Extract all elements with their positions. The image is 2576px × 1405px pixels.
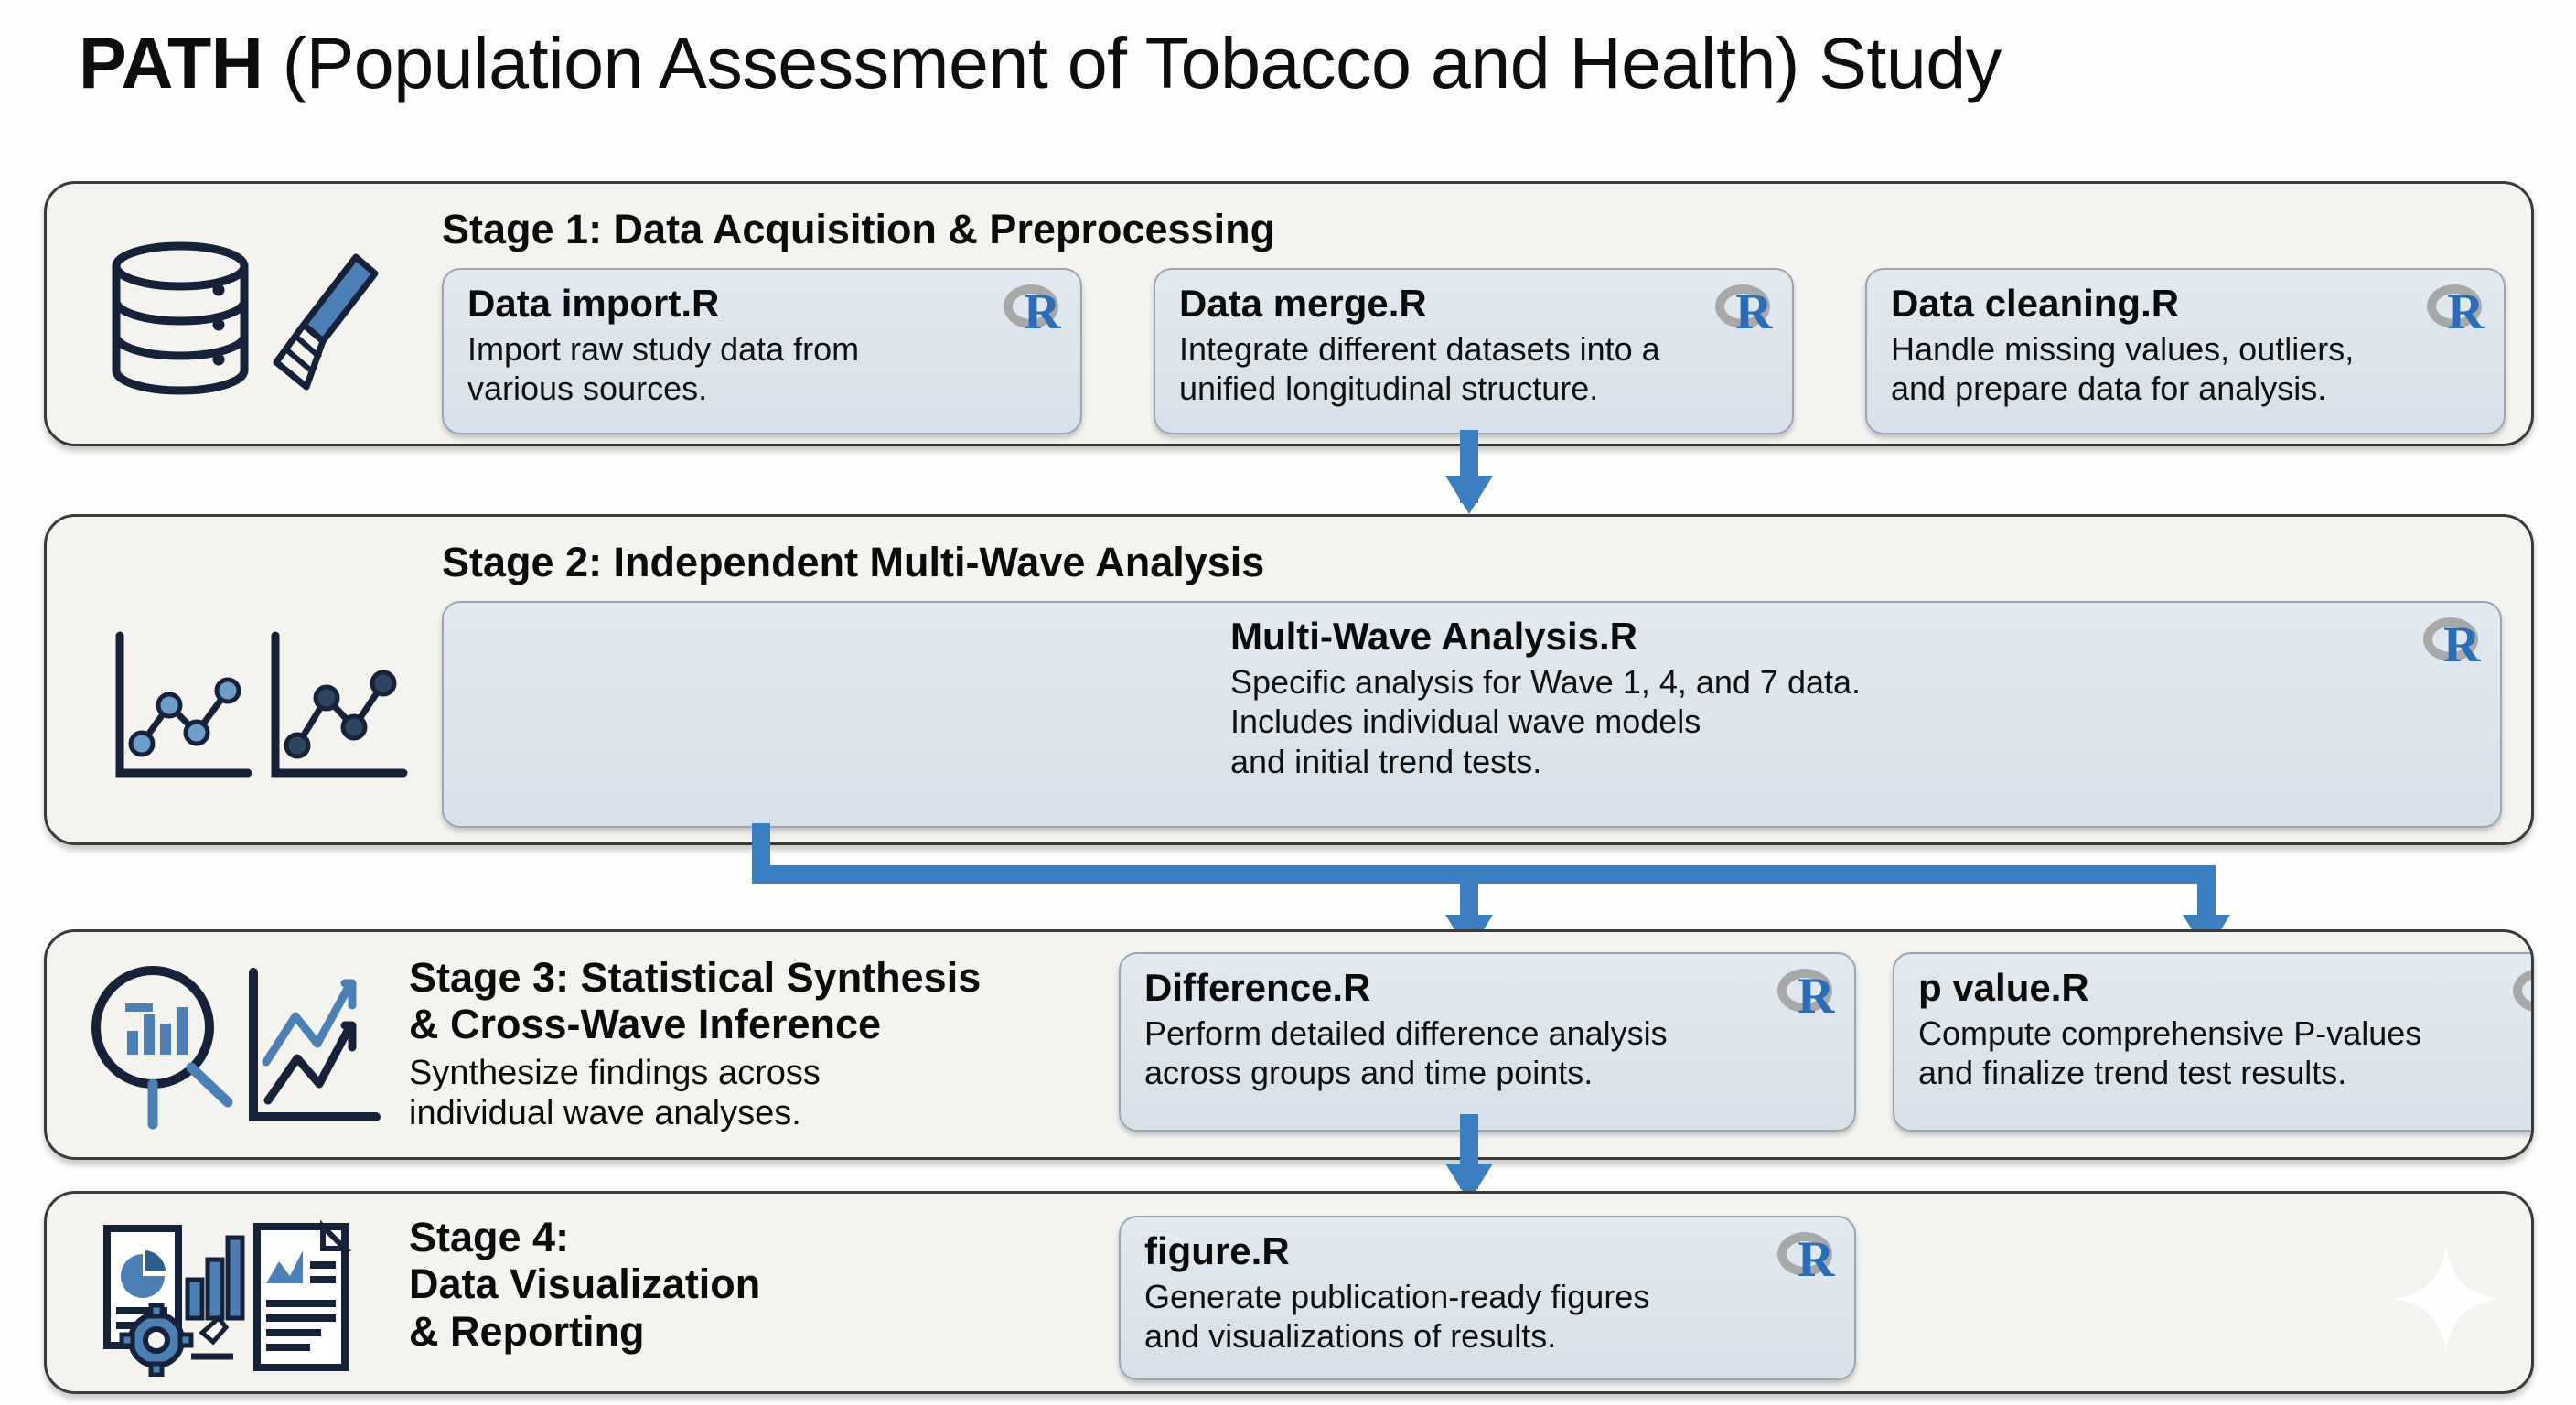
r-logo-icon: R (1777, 969, 1838, 1022)
card-title: p value.R (1918, 967, 2534, 1009)
page-title-rest: (Population Assessment of Tobacco and He… (263, 22, 2001, 103)
sparkle-watermark-icon (2392, 1245, 2500, 1353)
card-title: Data cleaning.R (1891, 283, 2480, 325)
diagram-canvas: PATH (Population Assessment of Tobacco a… (0, 0, 2576, 1405)
stage-4-heading: Stage 4: Data Visualization & Reporting (409, 1214, 760, 1355)
r-logo-icon: R (2513, 969, 2534, 1022)
card-data-cleaning[interactable]: Data cleaning.R Handle missing values, o… (1865, 268, 2506, 434)
card-description: Integrate different datasets into a unif… (1179, 329, 1768, 408)
card-title: Data merge.R (1179, 283, 1768, 325)
card-title: Difference.R (1144, 967, 1830, 1009)
report-charts-gear-icon (100, 1219, 365, 1377)
page-title: PATH (Population Assessment of Tobacco a… (79, 26, 2002, 102)
stage-2-heading: Stage 2: Independent Multi-Wave Analysis (442, 539, 1264, 585)
r-logo-icon: R (2423, 617, 2484, 670)
card-title: Data import.R (467, 283, 1057, 325)
card-description: Handle missing values, outliers, and pre… (1891, 329, 2480, 408)
card-multi-wave-analysis[interactable]: Multi-Wave Analysis.R Specific analysis … (442, 601, 2502, 828)
r-logo-icon: R (1004, 284, 1064, 338)
stage-3-heading: Stage 3: Statistical Synthesis & Cross-W… (409, 954, 981, 1048)
stage-3-subtitle: Synthesize findings across individual wa… (409, 1053, 821, 1133)
card-description: Specific analysis for Wave 1, 4, and 7 d… (1230, 662, 2476, 781)
stage-3-container: Stage 3: Statistical Synthesis & Cross-W… (44, 929, 2534, 1160)
r-logo-letter: R (1798, 1234, 1834, 1285)
card-p-value[interactable]: p value.R Compute comprehensive P-values… (1893, 952, 2534, 1132)
stage-1-container: Stage 1: Data Acquisition & Preprocessin… (44, 181, 2534, 446)
r-logo-icon: R (1715, 284, 1776, 338)
card-description: Compute comprehensive P-values and final… (1918, 1014, 2534, 1092)
card-title: figure.R (1144, 1230, 1830, 1272)
r-logo-icon: R (2427, 284, 2487, 338)
card-description: Perform detailed difference analysis acr… (1144, 1014, 1830, 1092)
stage-1-heading: Stage 1: Data Acquisition & Preprocessin… (442, 206, 1275, 252)
r-logo-letter: R (1024, 286, 1060, 338)
stage-2-container: Stage 2: Independent Multi-Wave Analysis… (44, 514, 2534, 845)
dual-line-chart-icon (109, 627, 411, 791)
r-logo-icon: R (1777, 1232, 1838, 1285)
magnifier-trend-icon (74, 963, 394, 1132)
stage-4-container: Stage 4: Data Visualization & Reporting … (44, 1191, 2534, 1394)
card-data-merge[interactable]: Data merge.R Integrate different dataset… (1154, 268, 1794, 434)
card-data-import[interactable]: Data import.R Import raw study data from… (442, 268, 1082, 434)
r-logo-letter: R (2447, 286, 2484, 338)
r-logo-letter: R (1798, 971, 1834, 1022)
card-difference[interactable]: Difference.R Perform detailed difference… (1119, 952, 1856, 1132)
card-figure[interactable]: figure.R Generate publication-ready figu… (1119, 1216, 1856, 1380)
r-logo-letter: R (2533, 971, 2534, 1022)
database-brush-icon (81, 241, 383, 410)
card-description: Import raw study data from various sourc… (467, 329, 1057, 408)
page-title-bold: PATH (79, 22, 263, 103)
r-logo-letter: R (2443, 619, 2480, 670)
r-logo-letter: R (1735, 286, 1772, 338)
card-title: Multi-Wave Analysis.R (1230, 616, 2476, 658)
card-description: Generate publication-ready figures and v… (1144, 1277, 1830, 1356)
